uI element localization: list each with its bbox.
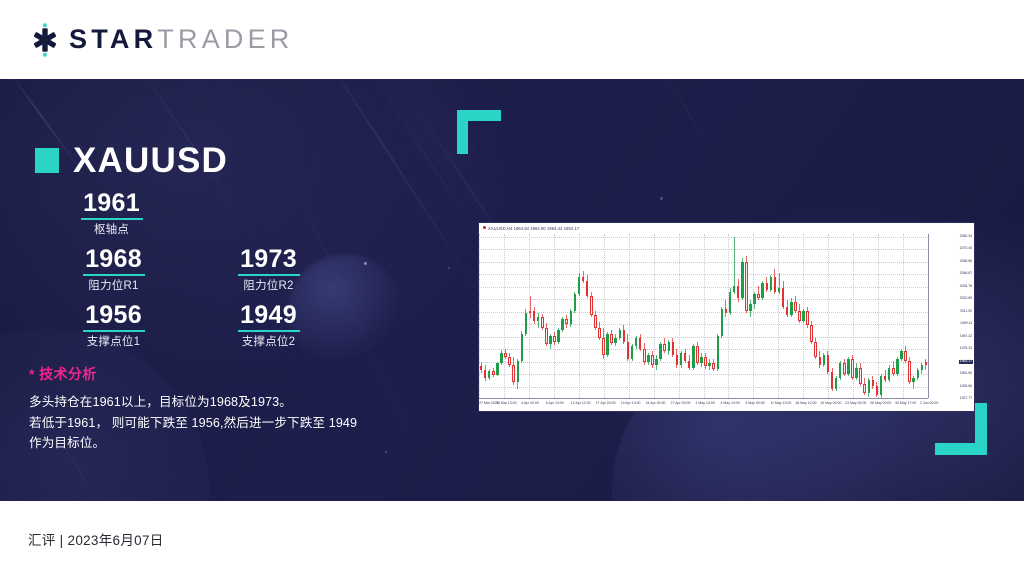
time-axis-tick: 16 May 12:00 — [795, 402, 816, 406]
candle-body — [696, 346, 699, 363]
candle-body — [623, 330, 626, 343]
candle-body — [492, 371, 495, 375]
candle-body — [872, 380, 875, 386]
pivot-label: 枢轴点 — [34, 224, 189, 238]
candle-body — [614, 338, 617, 343]
candle-body — [790, 302, 793, 315]
price-axis-tick: 2022.89 — [960, 297, 972, 301]
candle-body — [565, 319, 568, 324]
pivot-underline — [238, 330, 300, 332]
candle-body — [741, 262, 744, 298]
candle-body — [602, 338, 605, 355]
price-axis-tick: 2058.56 — [960, 260, 972, 264]
page-header: STARTRADER — [0, 0, 1024, 79]
pivot-label: 支撑点位2 — [191, 336, 346, 350]
candle-body — [537, 317, 540, 321]
candle-body — [533, 311, 536, 322]
analysis-line: 多头持仓在1961以上，目标位为1968及1973。 — [29, 392, 429, 413]
candle-body — [831, 372, 834, 389]
time-axis-tick: 12 Apr 12:00 — [571, 402, 591, 406]
analysis-line: 若低于1961， 则可能下跌至 1956,然后进一步下跌至 1949 — [29, 413, 429, 434]
candle-body — [631, 346, 634, 359]
candle-body — [610, 334, 613, 343]
candle-body — [549, 336, 552, 344]
candle-body — [782, 288, 785, 307]
candle-body — [557, 330, 560, 343]
page-footer: 汇评 | 2023年6月07日 — [0, 501, 1024, 576]
candle-body — [663, 344, 666, 350]
candle-body — [512, 365, 515, 382]
price-axis-tick: 1951.55 — [960, 372, 972, 376]
candle-body — [643, 349, 646, 363]
candle-body — [725, 309, 728, 313]
candle-body — [508, 357, 511, 365]
candle-body — [680, 353, 683, 366]
candle-body — [761, 283, 764, 298]
chart-plot-area[interactable] — [479, 234, 928, 398]
time-axis-tick: 19 Apr 13:00 — [621, 402, 641, 406]
candle-body — [488, 371, 491, 378]
candle-body — [672, 342, 675, 355]
pivot-value: 1961 — [34, 189, 189, 217]
pivot-cell-s1: 1956 支撑点位1 — [36, 301, 191, 357]
pivot-underline — [83, 330, 145, 332]
candle-body — [659, 344, 662, 359]
candle-body — [888, 368, 891, 381]
candle-body — [904, 351, 907, 362]
candle-body — [757, 294, 760, 298]
time-axis-tick: 4 Apr 00:00 — [521, 402, 539, 406]
asterisk-icon: * — [29, 366, 35, 382]
candle-body — [684, 353, 687, 361]
candle-body — [868, 380, 871, 393]
candle-body — [541, 317, 544, 328]
candle-body — [590, 296, 593, 315]
analysis-line: 作为目标位。 — [29, 433, 429, 454]
time-axis-tick: 30 May 17:00 — [895, 402, 916, 406]
candle-body — [480, 366, 483, 369]
candle-body — [855, 368, 858, 379]
candle-body — [827, 355, 830, 372]
candle-body — [704, 357, 707, 366]
pivot-label: 阻力位R2 — [191, 280, 346, 294]
current-price-label: 1963.17 — [959, 360, 973, 365]
pivot-row-resistance: 1968 阻力位R1 1973 阻力位R2 — [36, 245, 366, 301]
time-axis-tick: 23 May 00:00 — [845, 402, 866, 406]
pivot-value: 1956 — [36, 301, 191, 329]
candle-body — [921, 365, 924, 369]
analysis-heading-text: 技术分析 — [39, 366, 97, 382]
candle-body — [574, 294, 577, 311]
pivot-value: 1973 — [191, 245, 346, 273]
slide-root: STARTRADER XAUUSD 1961 — [0, 0, 1024, 576]
candle-body — [496, 363, 499, 375]
candle-body — [753, 294, 756, 305]
candle-body — [839, 363, 842, 378]
time-axis-tick: 19 May 00:00 — [820, 402, 841, 406]
candle-body — [859, 368, 862, 385]
bracket-arm — [457, 110, 468, 154]
chart-inner: XAUUSD,H4 1964.84 1964.90 1963.42 1963.1… — [479, 223, 974, 411]
technical-analysis: * 技术分析 多头持仓在1961以上，目标位为1968及1973。 若低于196… — [29, 364, 429, 454]
candle-body — [651, 355, 654, 366]
pivot-underline — [238, 274, 300, 276]
candle-body — [925, 362, 928, 365]
candle-body — [892, 368, 895, 374]
candle-body — [766, 283, 769, 289]
candle-body — [598, 328, 601, 339]
brand-name-bold: STAR — [69, 24, 157, 54]
candle-body — [553, 336, 556, 342]
price-axis-tick: 1927.77 — [960, 397, 972, 401]
time-axis-tick: 1 May 13:00 — [696, 402, 715, 406]
candle-body — [749, 304, 752, 310]
time-axis-tick: 4 May 13:00 — [720, 402, 739, 406]
pivot-cell-pivot: 1961 枢轴点 — [34, 189, 189, 245]
candle-body — [737, 286, 740, 299]
candle-body — [578, 277, 581, 294]
candle-body — [851, 359, 854, 378]
pivot-label: 支撑点位1 — [36, 336, 191, 350]
pivot-value: 1949 — [191, 301, 346, 329]
footer-caption: 汇评 | 2023年6月07日 — [28, 529, 164, 549]
decor-dot — [448, 267, 450, 269]
candle-body — [708, 363, 711, 366]
candle-body — [525, 313, 528, 334]
price-chart-window[interactable]: XAUUSD,H4 1964.84 1964.90 1963.42 1963.1… — [478, 222, 975, 412]
candle-body — [823, 355, 826, 366]
six-point-star-icon — [28, 23, 62, 57]
price-axis-tick: 1987.22 — [960, 335, 972, 339]
candle-body — [912, 378, 915, 382]
candle-body — [594, 315, 597, 328]
candle-body — [676, 355, 679, 366]
candle-body — [570, 311, 573, 325]
price-axis-tick: 2034.78 — [960, 285, 972, 289]
candle-body — [745, 262, 748, 310]
candle-body — [647, 355, 650, 362]
candle-body — [819, 357, 822, 365]
chart-title-text: XAUUSD,H4 1964.84 1964.90 1963.42 1963.1… — [488, 226, 579, 231]
pivot-row-support: 1956 支撑点位1 1949 支撑点位2 — [36, 301, 366, 357]
candle-body — [484, 370, 487, 378]
candle-body — [778, 288, 781, 292]
candle-body — [606, 334, 609, 355]
brand-logo[interactable]: STARTRADER — [28, 23, 294, 57]
time-axis-tick: 27 Apr 00:00 — [671, 402, 691, 406]
candle-body — [884, 376, 887, 380]
candle-body — [798, 311, 801, 322]
price-axis-tick: 2082.34 — [960, 235, 972, 239]
candle-body — [712, 363, 715, 368]
time-axis-tick: 30 Mar 13:00 — [496, 402, 517, 406]
candle-body — [582, 277, 585, 281]
candle-body — [504, 353, 507, 357]
time-axis-tick: 11 May 13:00 — [770, 402, 791, 406]
price-axis-tick: 2046.67 — [960, 272, 972, 276]
candle-body — [586, 281, 589, 296]
time-axis-tick: 24 Apr 00:00 — [646, 402, 666, 406]
candle-body — [774, 277, 777, 292]
candle-body — [627, 342, 630, 359]
analysis-heading: * 技术分析 — [29, 364, 429, 384]
symbol-dot-icon — [483, 226, 486, 229]
candle-body — [517, 361, 520, 382]
candle-body — [835, 378, 838, 389]
candle-body — [863, 384, 866, 392]
time-axis-tick: 17 Apr 00:00 — [596, 402, 616, 406]
candle-body — [635, 338, 638, 346]
candle-body — [500, 353, 503, 364]
main-panel: XAUUSD 1961 枢轴点 1968 阻力位R1 1973 — [0, 79, 1024, 501]
time-axis-tick: 6 Apr 13:00 — [546, 402, 564, 406]
candle-body — [908, 361, 911, 382]
candle-body — [900, 351, 903, 359]
chart-zone: XAUUSD,H4 1964.84 1964.90 1963.42 1963.1… — [451, 110, 1000, 470]
candle-body — [814, 342, 817, 357]
price-axis-tick: 2070.45 — [960, 247, 972, 251]
candle-body — [619, 330, 622, 338]
candle-body — [876, 386, 879, 394]
chart-time-axis[interactable]: 27 Mar 202330 Mar 13:004 Apr 00:006 Apr … — [479, 398, 928, 411]
candle-body — [668, 342, 671, 350]
candle-body — [692, 346, 695, 367]
time-axis-tick: 2 Jun 00:00 — [920, 402, 938, 406]
analysis-body: 多头持仓在1961以上，目标位为1968及1973。 若低于1961， 则可能下… — [29, 392, 429, 454]
candle-body — [896, 359, 899, 374]
candle-body — [810, 325, 813, 342]
brand-wordmark: STARTRADER — [69, 26, 294, 53]
pivot-underline — [83, 274, 145, 276]
corner-bracket-top-left — [457, 110, 501, 154]
time-axis-tick: 26 May 00:00 — [870, 402, 891, 406]
candle-body — [655, 359, 658, 365]
candle-body — [561, 319, 564, 330]
pivot-cell-s2: 1949 支撑点位2 — [191, 301, 346, 357]
candle-body — [843, 363, 846, 374]
time-axis-tick: 9 May 00:00 — [745, 402, 764, 406]
candle-body — [806, 311, 809, 326]
candle-body — [721, 309, 724, 336]
candle-body — [880, 376, 883, 395]
title-marker-icon — [35, 148, 59, 173]
candle-body — [733, 286, 736, 292]
pivot-underline — [81, 218, 143, 220]
candle-body — [521, 334, 524, 361]
price-axis-tick: 2011.00 — [960, 310, 972, 314]
candle-body — [802, 311, 805, 322]
pivot-levels: 1961 枢轴点 1968 阻力位R1 1973 阻力位R2 — [36, 189, 366, 356]
candle-body — [794, 302, 797, 310]
candle-body — [700, 357, 703, 363]
price-axis-tick: 1999.11 — [960, 322, 972, 326]
pivot-value: 1968 — [36, 245, 191, 273]
price-axis-tick: 1939.66 — [960, 385, 972, 389]
candle-body — [717, 336, 720, 369]
pivot-row-pivot: 1961 枢轴点 — [36, 189, 366, 245]
pivot-label: 阻力位R1 — [36, 280, 191, 294]
candle-body — [639, 338, 642, 349]
candle-body — [847, 359, 850, 374]
candle-body — [917, 370, 920, 378]
instrument-symbol: XAUUSD — [73, 143, 228, 178]
chart-title: XAUUSD,H4 1964.84 1964.90 1963.42 1963.1… — [479, 223, 974, 234]
brand-name-light: TRADER — [157, 24, 293, 54]
candle-body — [729, 292, 732, 313]
candle-body — [770, 277, 773, 290]
price-axis-tick: 1975.33 — [960, 347, 972, 351]
page-title: XAUUSD — [35, 143, 228, 178]
candle-wick — [530, 296, 531, 318]
candle-body — [545, 328, 548, 345]
candle-body — [688, 361, 691, 367]
pivot-cell-r1: 1968 阻力位R1 — [36, 245, 191, 301]
candlestick-series — [479, 234, 928, 398]
candle-body — [529, 311, 532, 313]
chart-price-axis[interactable]: 2082.342070.452058.562046.672034.782022.… — [928, 234, 974, 398]
candle-body — [786, 307, 789, 315]
bracket-arm — [975, 403, 987, 455]
pivot-cell-r2: 1973 阻力位R2 — [191, 245, 346, 301]
